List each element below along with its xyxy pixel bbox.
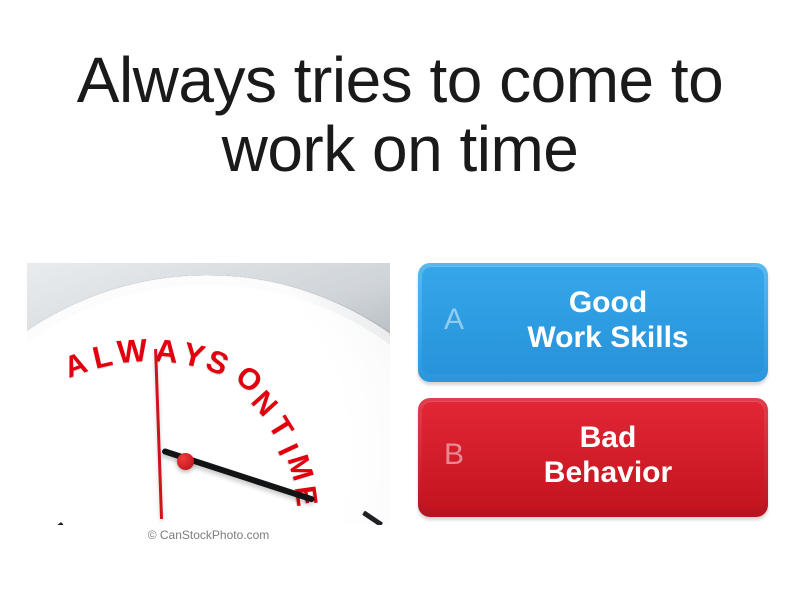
content-row: A L W A Y S O N T I M E © CanStockPhoto.…	[0, 263, 800, 563]
answer-option-b-face[interactable]: B Bad Behavior	[422, 401, 764, 509]
image-watermark: © CanStockPhoto.com	[27, 525, 390, 545]
answer-letter-a: A	[444, 305, 464, 335]
question-title: Always tries to come to work on time	[0, 46, 800, 184]
clock-dial	[27, 275, 390, 525]
answer-option-b[interactable]: B Bad Behavior	[418, 398, 768, 517]
answer-text-b: Bad Behavior	[500, 420, 686, 490]
answer-options: A Good Work Skills B Bad Behavior	[418, 263, 768, 533]
answer-option-a-face[interactable]: A Good Work Skills	[422, 266, 764, 374]
clock-center-hub	[177, 453, 194, 470]
answer-letter-b: B	[444, 440, 464, 470]
answer-option-a[interactable]: A Good Work Skills	[418, 263, 768, 382]
answer-text-a: Good Work Skills	[483, 285, 702, 355]
question-image-panel: A L W A Y S O N T I M E © CanStockPhoto.…	[27, 263, 390, 545]
clock-photo: A L W A Y S O N T I M E	[27, 263, 390, 525]
